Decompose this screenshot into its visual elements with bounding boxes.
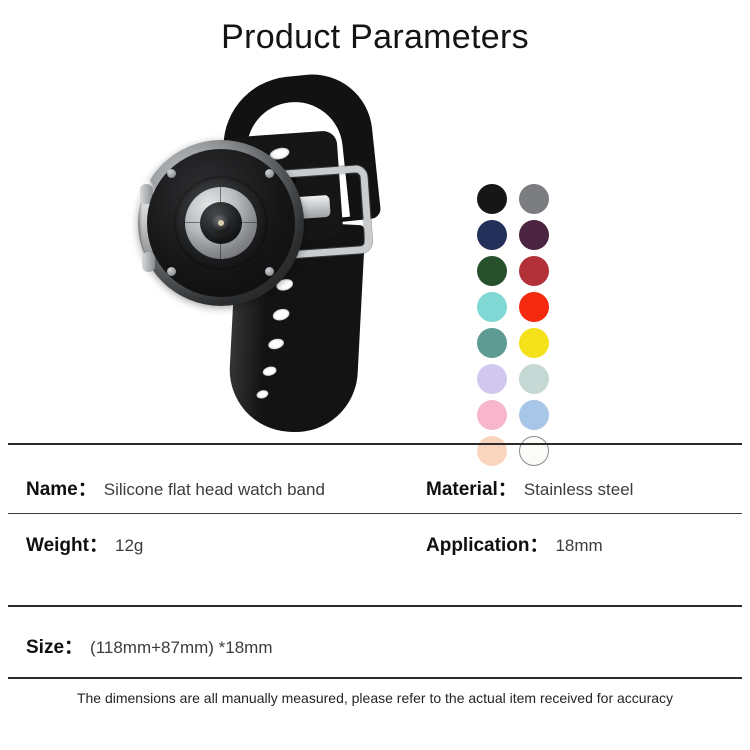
color-swatch-peach[interactable] — [477, 436, 507, 466]
spec-row-name-material: Name： Silicone flat head watch band Mate… — [0, 474, 750, 501]
color-swatch-gray[interactable] — [519, 184, 549, 214]
watch-case — [138, 140, 304, 306]
color-swatch-lavender[interactable] — [477, 364, 507, 394]
color-swatch-yellow[interactable] — [519, 328, 549, 358]
spec-size-label: Size： — [26, 632, 83, 659]
divider-size-top — [8, 605, 742, 607]
product-parameters-page: { "header": { "title": "Product Paramete… — [0, 0, 750, 750]
watch-side-button-bottom — [142, 252, 155, 272]
spec-row-size: Size： (118mm+87mm) *18mm — [0, 632, 750, 659]
case-screw — [167, 169, 176, 178]
color-swatch-bright-red[interactable] — [519, 292, 549, 322]
spec-weight-label: Weight： — [26, 530, 108, 557]
product-hero — [0, 72, 750, 432]
strap-hole — [267, 337, 285, 351]
strap-hole — [262, 365, 278, 377]
spec-name-value: Silicone flat head watch band — [104, 480, 325, 500]
spec-name: Name： Silicone flat head watch band — [0, 474, 426, 501]
color-swatch-white[interactable] — [519, 436, 549, 466]
color-swatch-pale-mint[interactable] — [519, 364, 549, 394]
spec-application: Application： 18mm — [426, 530, 603, 557]
color-swatch-dark-purple[interactable] — [519, 220, 549, 250]
color-swatch-brick-red[interactable] — [519, 256, 549, 286]
color-swatch-light-cyan[interactable] — [477, 292, 507, 322]
color-swatch-grid[interactable] — [477, 184, 549, 466]
spec-size: Size： (118mm+87mm) *18mm — [0, 632, 726, 659]
spec-material-value: Stainless steel — [524, 480, 634, 500]
sensor-led — [218, 220, 224, 226]
color-swatch-navy-blue[interactable] — [477, 220, 507, 250]
color-swatch-light-blue[interactable] — [519, 400, 549, 430]
color-swatch-black[interactable] — [477, 184, 507, 214]
measurement-disclaimer: The dimensions are all manually measured… — [0, 690, 750, 706]
spec-material-label: Material： — [426, 474, 517, 501]
case-screw — [265, 267, 274, 276]
spec-weight-value: 12g — [115, 536, 143, 556]
divider-middle — [8, 513, 742, 514]
color-swatch-pink[interactable] — [477, 400, 507, 430]
page-title: Product Parameters — [0, 18, 750, 57]
strap-hole — [271, 307, 290, 322]
spec-name-label: Name： — [26, 474, 97, 501]
product-photo — [120, 72, 470, 422]
case-screw — [167, 267, 176, 276]
color-swatch-dark-green[interactable] — [477, 256, 507, 286]
spec-size-value: (118mm+87mm) *18mm — [90, 638, 272, 658]
spec-material: Material： Stainless steel — [426, 474, 633, 501]
color-swatch-teal[interactable] — [477, 328, 507, 358]
divider-size-bottom — [8, 677, 742, 679]
spec-weight: Weight： 12g — [0, 530, 426, 557]
spec-row-weight-application: Weight： 12g Application： 18mm — [0, 530, 750, 557]
case-screw — [265, 169, 274, 178]
spec-application-label: Application： — [426, 530, 548, 557]
spec-application-value: 18mm — [555, 536, 602, 556]
divider-top — [8, 443, 742, 445]
